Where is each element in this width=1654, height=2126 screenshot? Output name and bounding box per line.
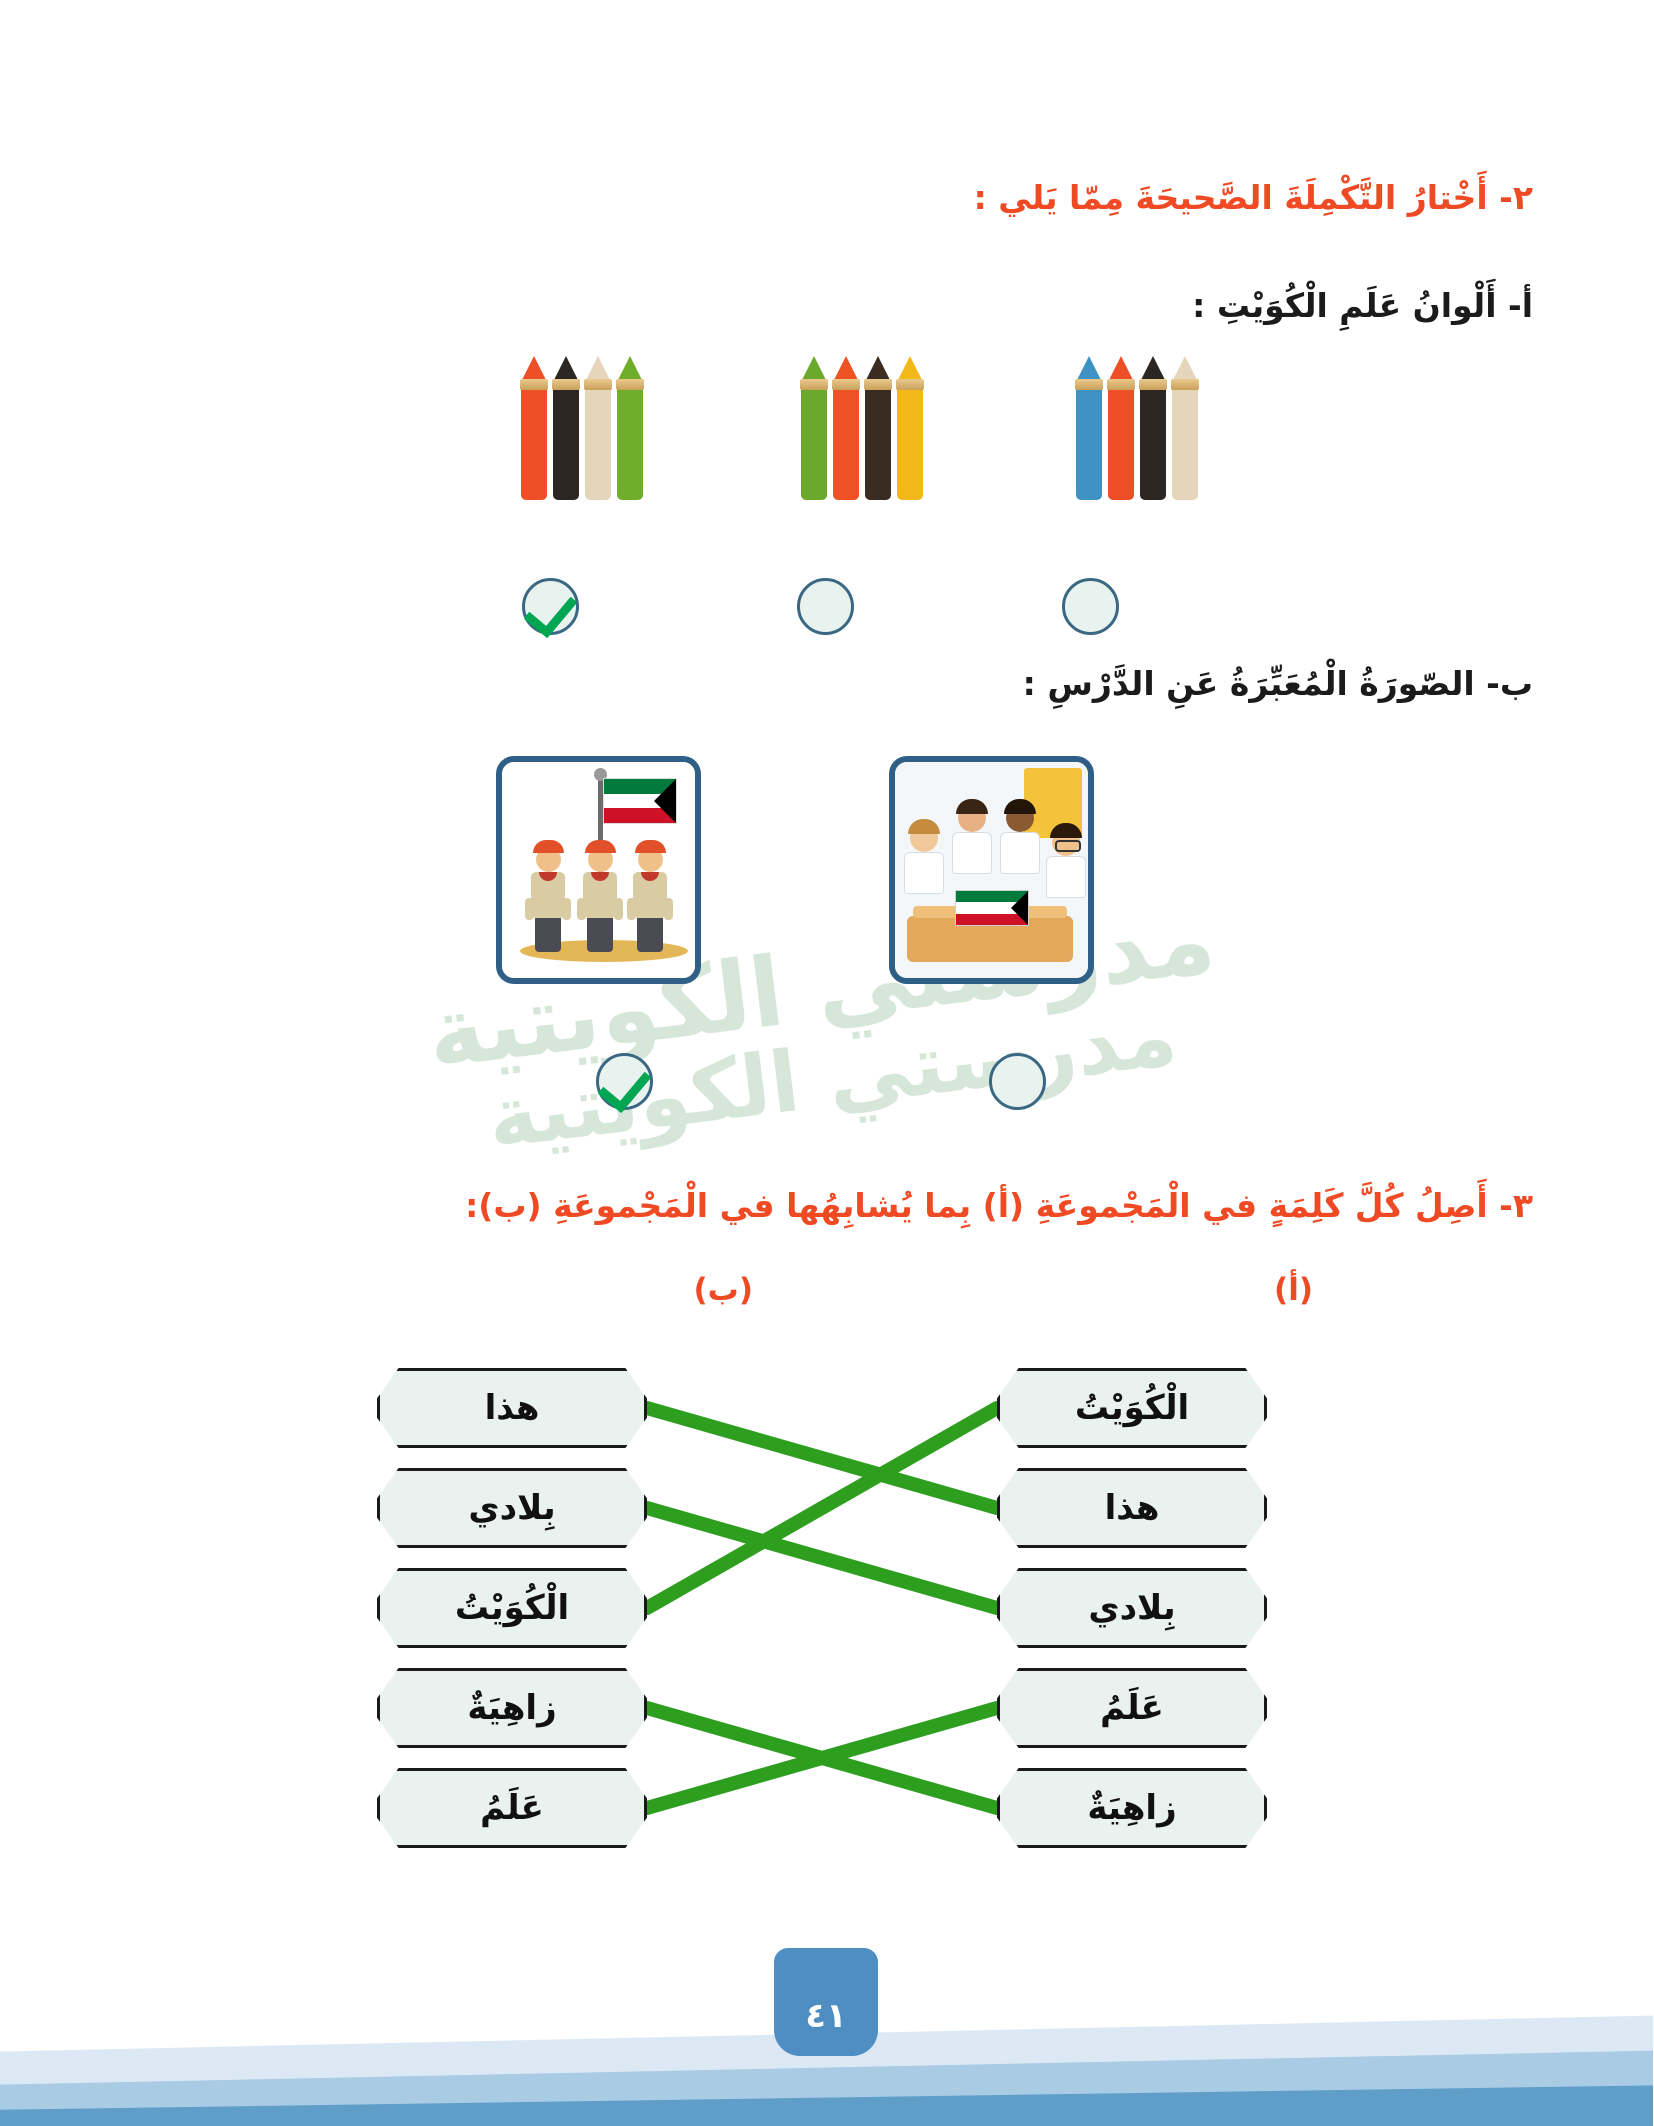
- match-line: [648, 1408, 998, 1608]
- pencil-red: [1109, 382, 1135, 500]
- pencil-black: [554, 382, 580, 500]
- question-2-prompt: ٢- أَخْتارُ التَّكْمِلَةَ الصَّحيحَةَ مِ…: [975, 178, 1534, 217]
- word-box-b-2[interactable]: الْكُوَيْتُ: [378, 1568, 648, 1648]
- pencil-band: [801, 379, 829, 390]
- pencil-band: [617, 379, 645, 390]
- pencil-band: [1076, 379, 1104, 390]
- word-box-a-2[interactable]: بِلادي: [998, 1568, 1268, 1648]
- pencil-blue: [1077, 382, 1103, 500]
- match-line: [648, 1408, 998, 1508]
- match-line: [648, 1508, 998, 1608]
- pencil-red: [834, 382, 860, 500]
- scout-figure: [631, 847, 671, 952]
- kuwait-flag-icon: [604, 778, 678, 824]
- word-box-a-3[interactable]: عَلَمُ: [998, 1668, 1268, 1748]
- option-b1-radio[interactable]: [597, 1053, 654, 1110]
- worksheet-page: مدرستي الكويتية مدرستي الكويتية ٢- أَخْت…: [0, 0, 1654, 2126]
- option-b2-radio[interactable]: [990, 1053, 1047, 1110]
- word-box-b-0[interactable]: هذا: [378, 1368, 648, 1448]
- pencil-group-option-1: [522, 382, 644, 500]
- pencil-band: [897, 379, 925, 390]
- pencil-white: [1173, 382, 1199, 500]
- pencil-green: [802, 382, 828, 500]
- pencil-red: [522, 382, 548, 500]
- option-a1-radio[interactable]: [523, 578, 580, 635]
- word-box-b-4[interactable]: عَلَمُ: [378, 1768, 648, 1848]
- page-number-badge: ٤١: [775, 1948, 879, 2056]
- question-3-prompt: ٣- أَصِلُ كُلَّ كَلِمَةٍ في الْمَجْموعَة…: [466, 1186, 1534, 1225]
- scout-figure: [581, 847, 621, 952]
- match-line: [648, 1708, 998, 1808]
- pencil-group-option-3: [1077, 382, 1199, 500]
- student-figure: [952, 804, 994, 874]
- pencil-band: [585, 379, 613, 390]
- pencil-group-option-2: [802, 382, 924, 500]
- picture-students-coloring-flag[interactable]: [890, 756, 1095, 984]
- pencil-band: [1140, 379, 1168, 390]
- picture-scouts-saluting[interactable]: [497, 756, 702, 984]
- check-icon: [525, 583, 579, 639]
- word-box-b-3[interactable]: زاهِيَةٌ: [378, 1668, 648, 1748]
- watermark-line-2: مدرستي الكويتية: [6, 927, 1654, 1226]
- pencil-green: [618, 382, 644, 500]
- option-a2-radio[interactable]: [798, 578, 855, 635]
- pencil-black: [866, 382, 892, 500]
- word-box-a-0[interactable]: الْكُوَيْتُ: [998, 1368, 1268, 1448]
- pencil-band: [553, 379, 581, 390]
- pencil-yellow: [898, 382, 924, 500]
- pencil-band: [521, 379, 549, 390]
- student-figure: [904, 824, 946, 894]
- word-box-b-1[interactable]: بِلادي: [378, 1468, 648, 1548]
- student-figure: [1000, 804, 1042, 874]
- kuwait-flag-drawing: [956, 890, 1030, 926]
- pencil-band: [1108, 379, 1136, 390]
- pencil-band: [833, 379, 861, 390]
- word-box-a-4[interactable]: زاهِيَةٌ: [998, 1768, 1268, 1848]
- watermark: مدرستي الكويتية مدرستي الكويتية: [0, 830, 1654, 1226]
- pencil-black: [1141, 382, 1167, 500]
- student-figure-with-glasses: [1046, 828, 1088, 898]
- question-2a-prompt: أ- أَلْوانُ عَلَمِ الْكُوَيْتِ :: [1193, 286, 1534, 325]
- pencil-band: [1172, 379, 1200, 390]
- match-line: [648, 1708, 998, 1808]
- word-box-a-1[interactable]: هذا: [998, 1468, 1268, 1548]
- question-2b-prompt: ب- الصّورَةُ الْمُعَبِّرَةُ عَنِ الدَّرْ…: [1024, 664, 1534, 703]
- scout-figure: [529, 847, 569, 952]
- pencil-band: [865, 379, 893, 390]
- check-icon: [599, 1058, 653, 1114]
- column-a-header: (أ): [1275, 1272, 1314, 1308]
- option-a3-radio[interactable]: [1063, 578, 1120, 635]
- pencil-white: [586, 382, 612, 500]
- column-b-header: (ب): [695, 1272, 755, 1308]
